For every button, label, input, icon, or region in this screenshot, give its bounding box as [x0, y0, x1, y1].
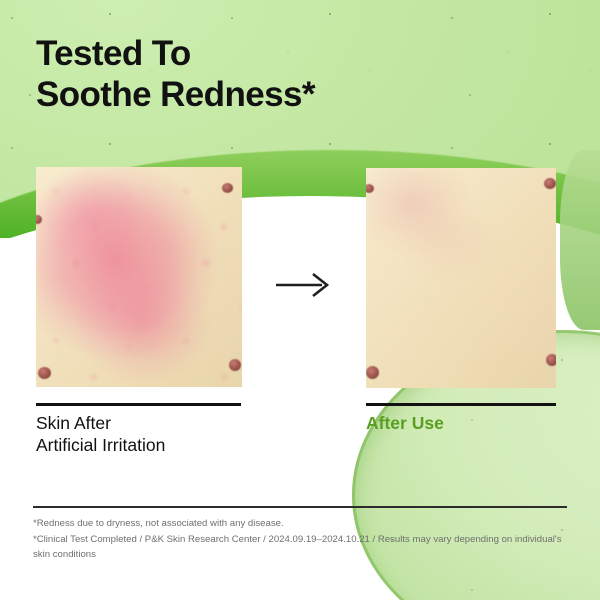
before-caption-rule: [36, 403, 241, 406]
page-title: Tested To Soothe Redness*: [36, 34, 315, 116]
advertisement-canvas: Tested To Soothe Redness* Skin After Art…: [0, 0, 600, 600]
mole-icon: [544, 178, 556, 189]
mole-icon: [366, 366, 379, 379]
after-caption-rule: [366, 403, 556, 406]
after-caption-label: After Use: [366, 412, 444, 434]
before-photo: [36, 167, 242, 387]
skin-shading-layer: [36, 167, 242, 387]
footnote-redness: *Redness due to dryness, not associated …: [33, 516, 573, 532]
footnotes: *Redness due to dryness, not associated …: [33, 516, 573, 563]
right-arrow-icon: [275, 272, 333, 298]
before-caption-label: Skin After Artificial Irritation: [36, 412, 165, 457]
footer-divider: [33, 506, 567, 508]
skin-shading-layer: [366, 168, 556, 388]
after-photo: [366, 168, 556, 388]
mole-icon: [546, 354, 556, 366]
mole-icon: [222, 183, 233, 193]
mole-icon: [229, 359, 241, 371]
footnote-clinical-test: *Clinical Test Completed / P&K Skin Rese…: [33, 532, 573, 563]
gel-edge-right-shape: [560, 150, 600, 330]
mole-icon: [38, 367, 51, 379]
